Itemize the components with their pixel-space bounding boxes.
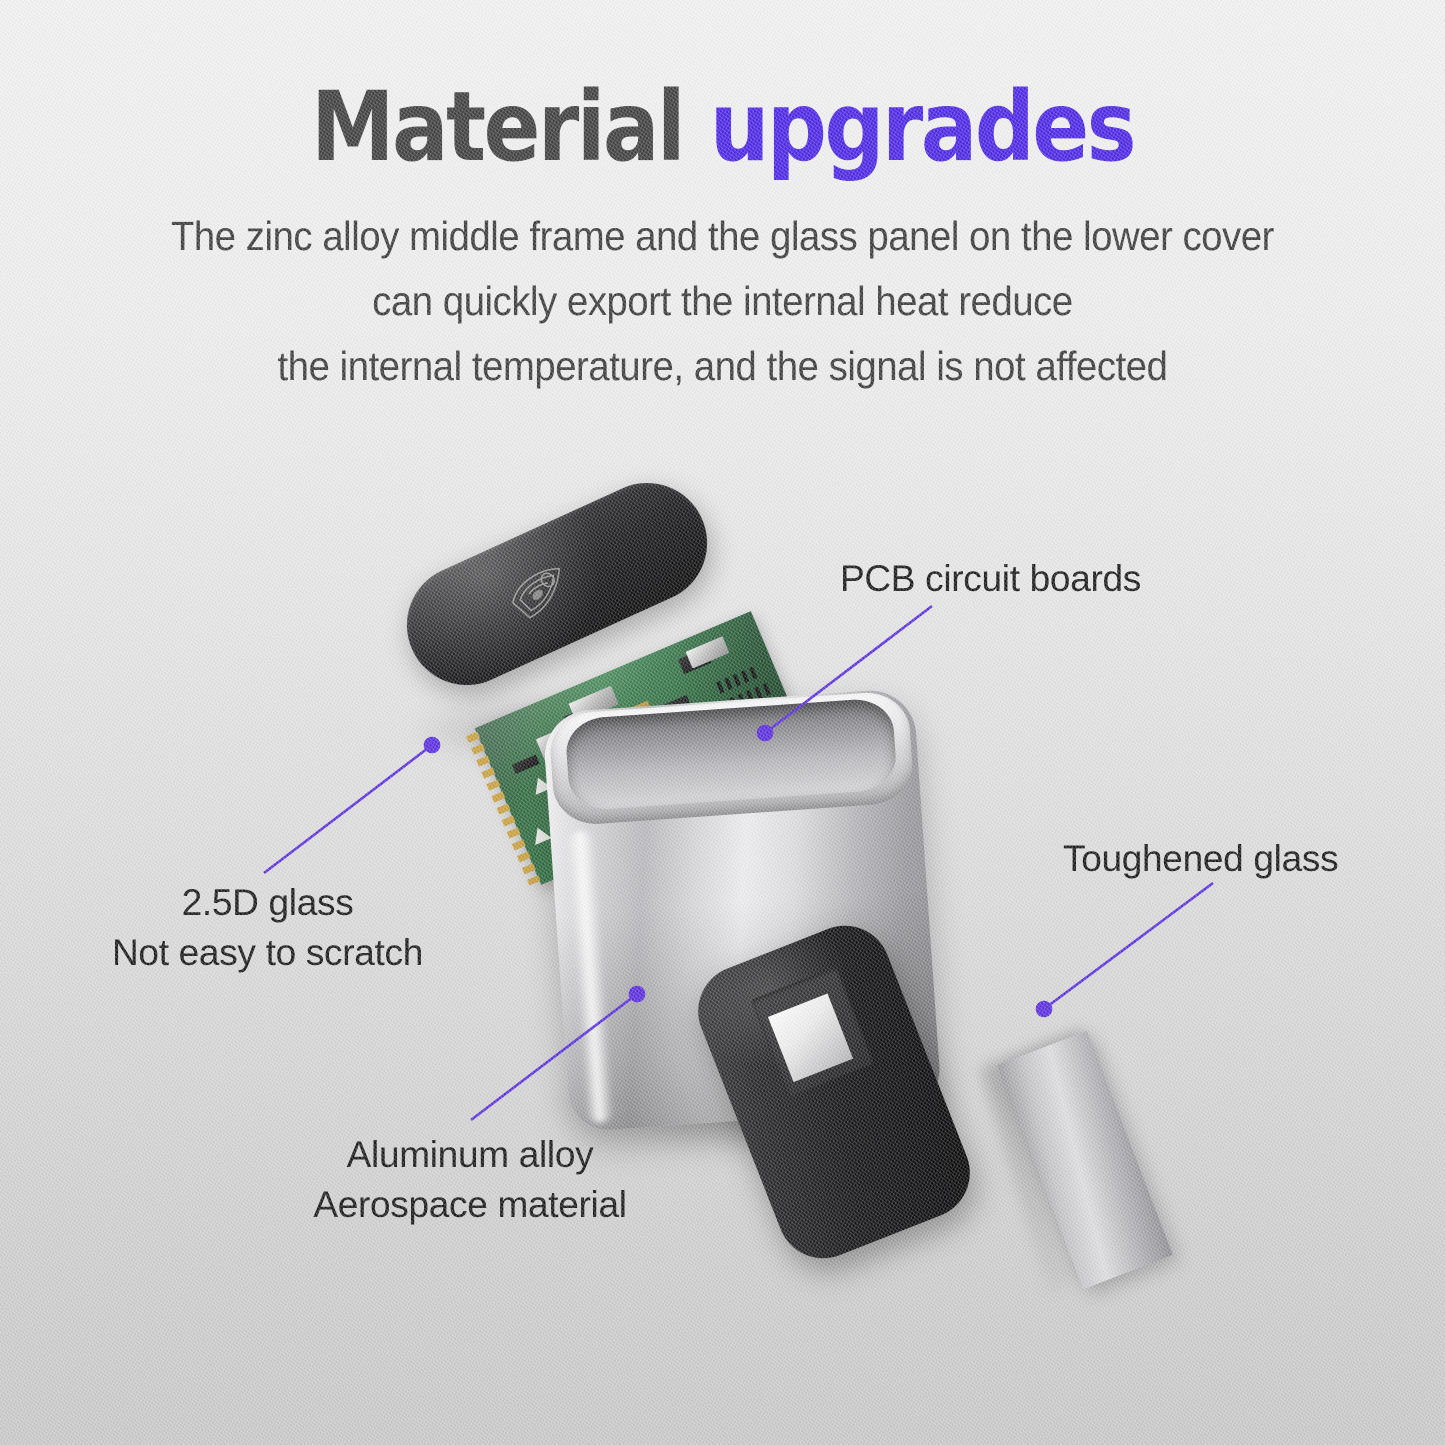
usb-window-glass	[768, 994, 853, 1083]
callout-pcb-line-1: PCB circuit boards	[840, 554, 1141, 604]
callout-25d-line-2: Not easy to scratch	[95, 928, 440, 978]
usb-connector-assembly	[726, 930, 1196, 1310]
brand-emblem-icon	[500, 557, 579, 627]
callout-toughened-line-1: Toughened glass	[1063, 834, 1338, 884]
callout-aluminum-line-2: Aerospace material	[295, 1180, 645, 1230]
usb-black-body	[685, 912, 984, 1272]
callout-label-25d-glass: 2.5D glass Not easy to scratch	[95, 878, 440, 977]
callout-25d-line-1: 2.5D glass	[95, 878, 440, 928]
callout-aluminum-line-1: Aluminum alloy	[295, 1130, 645, 1180]
product-exploded-view	[0, 0, 1445, 1445]
callout-label-toughened-glass: Toughened glass	[1063, 834, 1338, 884]
callout-label-pcb: PCB circuit boards	[840, 554, 1141, 604]
callout-label-aluminum: Aluminum alloy Aerospace material	[295, 1130, 645, 1229]
usb-window-frame	[751, 966, 875, 1096]
